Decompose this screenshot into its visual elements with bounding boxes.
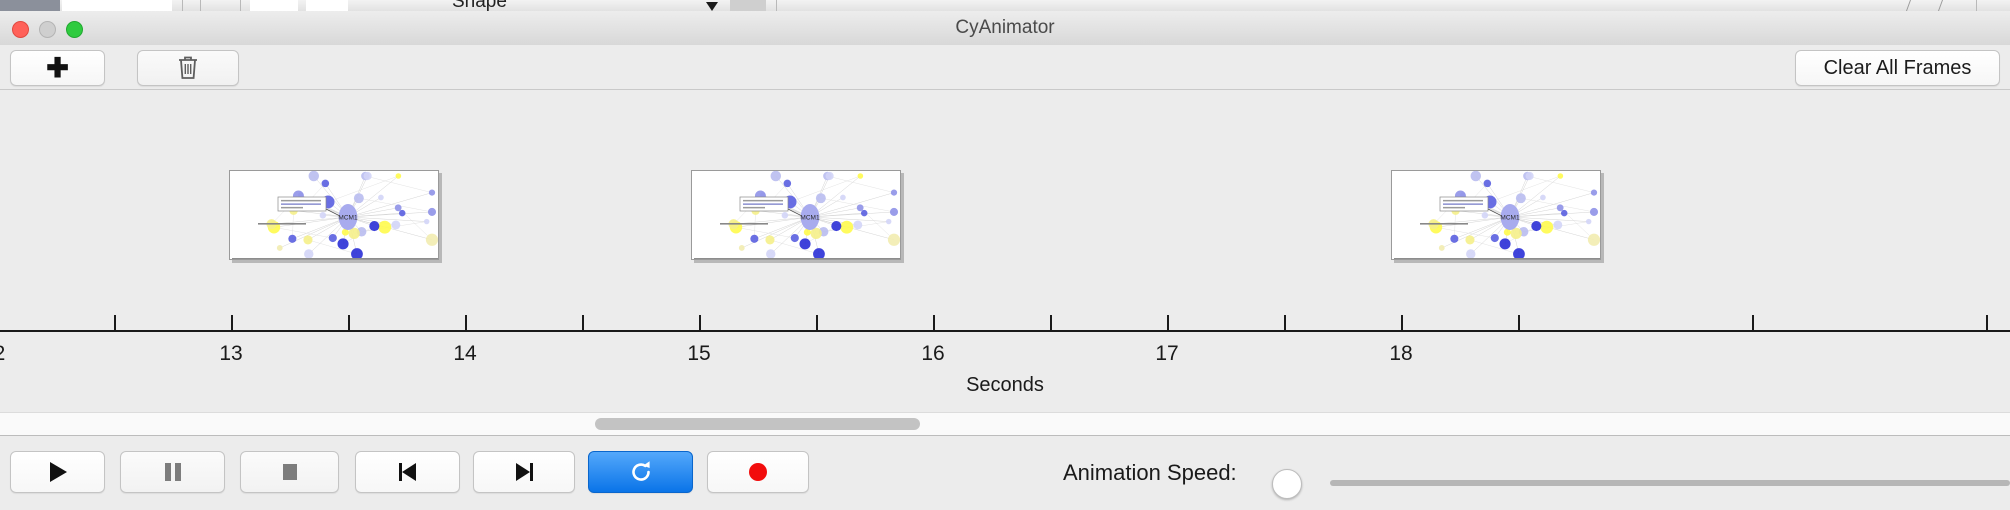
trash-icon: [177, 55, 199, 81]
background-window-strip: Shape: [0, 0, 2010, 11]
plus-icon: ✚: [46, 55, 69, 82]
loop-button[interactable]: [588, 451, 693, 493]
axis-tick-label: 17: [1155, 342, 1178, 366]
axis-major-tick: [1401, 315, 1403, 330]
add-frame-button[interactable]: ✚: [10, 50, 105, 86]
animation-speed-slider-track[interactable]: [1330, 480, 2010, 486]
skip-to-start-button[interactable]: [355, 451, 460, 493]
axis-major-tick: [465, 315, 467, 330]
axis-minor-tick: [114, 315, 116, 330]
axis-minor-tick: [1050, 315, 1052, 330]
animation-speed-slider-thumb[interactable]: [1272, 469, 1302, 499]
cyanimator-window: Shape CyAnimator ✚ Clear: [0, 0, 2010, 510]
title-bar: CyAnimator: [0, 11, 2010, 46]
background-window-title: Shape: [452, 0, 507, 11]
clear-all-frames-label: Clear All Frames: [1824, 57, 1972, 80]
axis-minor-tick: [1518, 315, 1520, 330]
axis-tick-label: 14: [453, 342, 476, 366]
axis-tick-label: 16: [921, 342, 944, 366]
svg-text:MCM1: MCM1: [1500, 215, 1520, 222]
pause-button: [120, 451, 225, 493]
axis-tick-label: 15: [687, 342, 710, 366]
axis-minor-tick: [816, 315, 818, 330]
network-thumbnail: MCM1: [692, 171, 900, 259]
axis-tick-label: 18: [1389, 342, 1412, 366]
axis-minor-tick: [1284, 315, 1286, 330]
axis-minor-tick: [348, 315, 350, 330]
keyframe-thumbnail[interactable]: MCM1: [1391, 170, 1601, 260]
axis-minor-tick: [1986, 315, 1988, 330]
timeline-scrollbar-thumb[interactable]: [595, 418, 920, 430]
axis-title: Seconds: [0, 374, 2010, 397]
network-thumbnail: MCM1: [1392, 171, 1600, 259]
playback-control-bar: Animation Speed:: [0, 435, 2010, 510]
play-icon: [47, 460, 69, 484]
record-icon: [746, 460, 770, 484]
play-button[interactable]: [10, 451, 105, 493]
loop-icon: [628, 459, 654, 485]
skip-forward-icon: [512, 460, 536, 484]
record-button[interactable]: [707, 451, 809, 493]
axis-tick-label: 13: [219, 342, 242, 366]
svg-text:MCM1: MCM1: [338, 215, 358, 222]
delete-frame-button[interactable]: [137, 50, 239, 86]
axis-minor-tick: [1752, 315, 1754, 330]
stop-icon: [279, 460, 301, 484]
toolbar: ✚ Clear All Frames: [0, 45, 2010, 90]
stop-button: [240, 451, 339, 493]
axis-tick-label: 2: [0, 342, 5, 366]
skip-to-end-button[interactable]: [473, 451, 575, 493]
axis-major-tick: [1167, 315, 1169, 330]
axis-minor-tick: [582, 315, 584, 330]
axis-major-tick: [231, 315, 233, 330]
timeline-scrollbar-track[interactable]: [0, 412, 2010, 436]
axis-major-tick: [933, 315, 935, 330]
animation-speed-label: Animation Speed:: [1063, 460, 1237, 486]
skip-back-icon: [396, 460, 420, 484]
clear-all-frames-button[interactable]: Clear All Frames: [1795, 50, 2000, 86]
pause-icon: [162, 460, 184, 484]
network-thumbnail: MCM1: [230, 171, 438, 259]
window-title: CyAnimator: [0, 11, 2010, 45]
keyframe-thumbnail[interactable]: MCM1: [691, 170, 901, 260]
timeline-panel[interactable]: MCM1MCM1MCM1 2131415161718 Seconds: [0, 90, 2010, 410]
svg-text:MCM1: MCM1: [800, 215, 820, 222]
axis-major-tick: [699, 315, 701, 330]
timeline-axis-line: [0, 330, 2010, 332]
keyframe-thumbnail[interactable]: MCM1: [229, 170, 439, 260]
